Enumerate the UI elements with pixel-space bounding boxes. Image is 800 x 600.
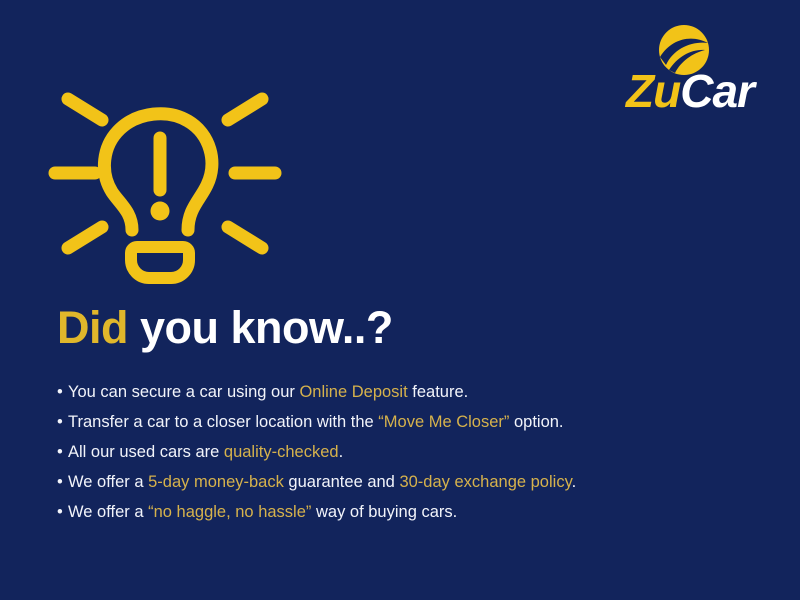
list-item: •Transfer a car to a closer location wit… <box>57 407 757 437</box>
list-item-plain: Transfer a car to a closer location with… <box>68 413 378 431</box>
list-item-highlight: “no haggle, no hassle” <box>148 503 311 521</box>
list-item-plain: guarantee and <box>284 473 400 491</box>
list-item-plain: way of buying cars. <box>311 503 457 521</box>
list-item-plain: You can secure a car using our <box>68 383 299 401</box>
list-item-text: We offer a “no haggle, no hassle” way of… <box>68 497 457 527</box>
headline-highlight: Did <box>57 302 128 353</box>
list-item-plain: We offer a <box>68 503 148 521</box>
list-item-text: We offer a 5-day money-back guarantee an… <box>68 467 576 497</box>
lightbulb-exclamation-idea-icon <box>40 72 290 287</box>
list-item-highlight: quality-checked <box>224 443 339 461</box>
list-item-plain: All our used cars are <box>68 443 224 461</box>
list-item-highlight: Online Deposit <box>299 383 407 401</box>
bullet-marker-icon: • <box>57 377 68 407</box>
bullet-marker-icon: • <box>57 497 68 527</box>
page-title: Did you know..? <box>57 303 393 353</box>
bullet-marker-icon: • <box>57 437 68 467</box>
list-item-highlight: 5-day money-back <box>148 473 284 491</box>
list-item-text: All our used cars are quality-checked. <box>68 437 343 467</box>
list-item-plain: We offer a <box>68 473 148 491</box>
wordmark-zu: Zu <box>626 65 680 117</box>
bullet-marker-icon: • <box>57 407 68 437</box>
slide-canvas: Did you know..? •You can secure a car us… <box>0 0 800 600</box>
list-item-plain: feature. <box>408 383 469 401</box>
list-item: •All our used cars are quality-checked. <box>57 437 757 467</box>
list-item-highlight: “Move Me Closer” <box>378 413 509 431</box>
brand-wordmark: ZuCar <box>600 68 780 114</box>
list-item: •You can secure a car using our Online D… <box>57 377 757 407</box>
bullet-list: •You can secure a car using our Online D… <box>57 377 757 527</box>
list-item-plain: . <box>572 473 577 491</box>
list-item-text: You can secure a car using our Online De… <box>68 377 468 407</box>
list-item-highlight: 30-day exchange policy <box>399 473 571 491</box>
list-item: •We offer a 5-day money-back guarantee a… <box>57 467 757 497</box>
wordmark-car: Car <box>680 65 754 117</box>
list-item-plain: option. <box>509 413 563 431</box>
headline-rest: you know..? <box>128 302 393 353</box>
bullet-marker-icon: • <box>57 467 68 497</box>
list-item: •We offer a “no haggle, no hassle” way o… <box>57 497 757 527</box>
list-item-text: Transfer a car to a closer location with… <box>68 407 564 437</box>
brand-logo: ZuCar <box>600 24 780 114</box>
list-item-plain: . <box>339 443 344 461</box>
